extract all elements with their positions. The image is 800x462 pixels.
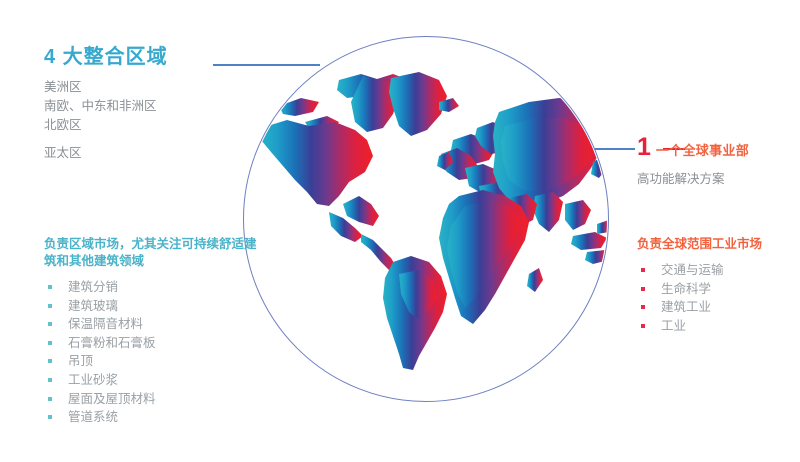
global-division-number: 1	[637, 134, 651, 160]
list-item-label: 管道系统	[68, 410, 118, 424]
world-globe-icon	[243, 36, 609, 402]
square-bullet-icon	[48, 304, 52, 308]
list-item-label: 建筑分销	[68, 280, 118, 294]
list-item-label: 吊顶	[68, 354, 93, 368]
list-item: 交通与运输	[637, 261, 797, 280]
square-bullet-icon	[48, 341, 52, 345]
industrial-markets-heading: 负责全球范围工业市场	[637, 236, 797, 253]
list-item: 南欧、中东和非洲区	[44, 97, 244, 116]
list-item: 北欧区	[44, 116, 244, 135]
global-division-headline: 1 一个全球事业部	[637, 134, 797, 160]
square-bullet-icon	[641, 287, 645, 291]
global-division-subtitle: 高功能解决方案	[637, 170, 797, 188]
list-item: 建筑工业	[637, 298, 797, 317]
square-bullet-icon	[641, 305, 645, 309]
list-item-label: 建筑工业	[661, 300, 711, 314]
regional-markets-block: 负责区域市场，尤其关注可持续舒适建筑和其他建筑领域 建筑分销 建筑玻璃 保温隔音…	[44, 236, 259, 427]
square-bullet-icon	[48, 359, 52, 363]
regions-title: 4 大整合区域	[44, 44, 244, 70]
world-globe-graphic	[243, 36, 609, 402]
list-item: 建筑分销	[44, 278, 259, 297]
list-item: 美洲区	[44, 78, 244, 97]
global-division-title: 一个全球事业部	[656, 140, 749, 159]
square-bullet-icon	[48, 397, 52, 401]
regional-markets-heading: 负责区域市场，尤其关注可持续舒适建筑和其他建筑领域	[44, 236, 259, 270]
list-item: 屋面及屋顶材料	[44, 390, 259, 409]
regions-block: 4 大整合区域 美洲区 南欧、中东和非洲区 北欧区 亚太区	[44, 44, 244, 163]
list-item: 生命科学	[637, 280, 797, 299]
global-division-block: 1 一个全球事业部 高功能解决方案	[637, 134, 797, 188]
square-bullet-icon	[641, 268, 645, 272]
square-bullet-icon	[48, 378, 52, 382]
list-item: 保温隔音材料	[44, 315, 259, 334]
slide-canvas: 4 大整合区域 美洲区 南欧、中东和非洲区 北欧区 亚太区 负责区域市场，尤其关…	[0, 0, 800, 462]
list-item: 管道系统	[44, 408, 259, 427]
list-item: 建筑玻璃	[44, 297, 259, 316]
list-item-label: 生命科学	[661, 282, 711, 296]
industrial-markets-block: 负责全球范围工业市场 交通与运输 生命科学 建筑工业 工业	[637, 236, 797, 335]
square-bullet-icon	[48, 285, 52, 289]
list-item-label: 工业砂浆	[68, 373, 118, 387]
square-bullet-icon	[48, 322, 52, 326]
list-item-label: 交通与运输	[661, 263, 724, 277]
square-bullet-icon	[641, 324, 645, 328]
list-item-label: 屋面及屋顶材料	[68, 392, 156, 406]
square-bullet-icon	[48, 415, 52, 419]
list-item-label: 保温隔音材料	[68, 317, 143, 331]
list-item: 亚太区	[44, 144, 244, 163]
list-item-label: 石膏粉和石膏板	[68, 336, 156, 350]
list-item-label: 建筑玻璃	[68, 299, 118, 313]
regional-markets-list: 建筑分销 建筑玻璃 保温隔音材料 石膏粉和石膏板 吊顶 工业砂浆 屋面及屋顶材料…	[44, 278, 259, 427]
regions-list: 美洲区 南欧、中东和非洲区 北欧区 亚太区	[44, 78, 244, 163]
list-item-label: 工业	[661, 319, 686, 333]
list-item: 石膏粉和石膏板	[44, 334, 259, 353]
industrial-markets-list: 交通与运输 生命科学 建筑工业 工业	[637, 261, 797, 335]
list-item: 吊顶	[44, 352, 259, 371]
list-item: 工业砂浆	[44, 371, 259, 390]
list-item: 工业	[637, 317, 797, 336]
